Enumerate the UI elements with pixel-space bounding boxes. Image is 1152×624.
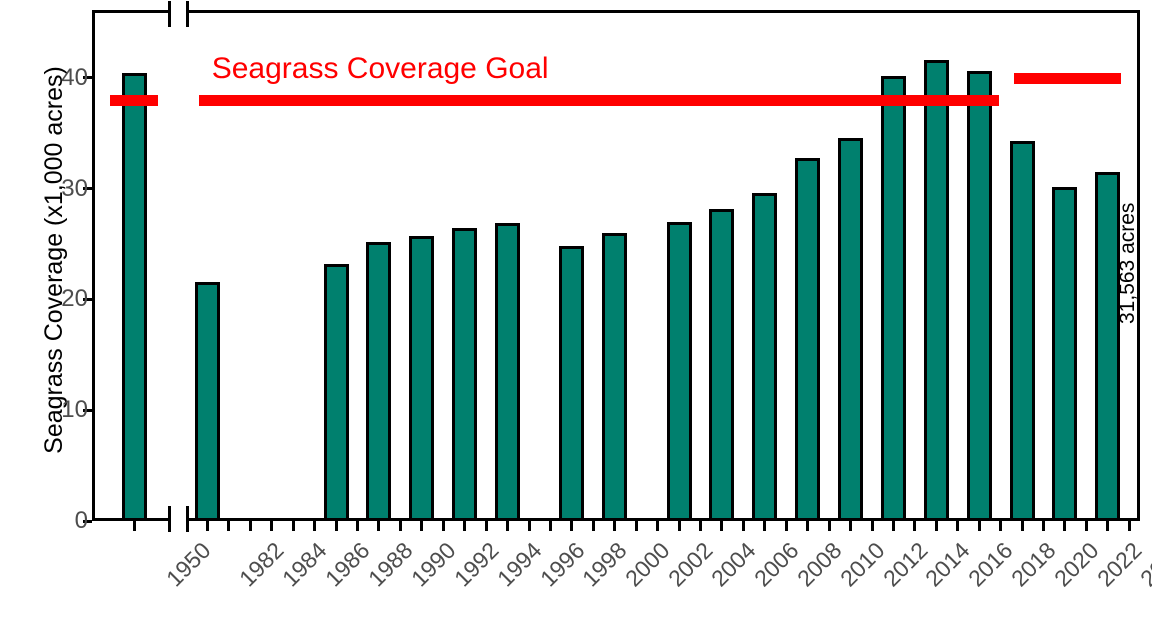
last-bar-value-label: 31,563 acres bbox=[1116, 203, 1140, 324]
x-axis-tick bbox=[1128, 521, 1131, 531]
goal-line-segment-main bbox=[199, 95, 999, 106]
x-axis-tick bbox=[377, 521, 380, 531]
axis-break-mark-top-left bbox=[168, 1, 171, 27]
x-axis-tick bbox=[742, 521, 745, 531]
bar bbox=[1052, 187, 1077, 521]
y-axis-tick-label: 30 bbox=[61, 175, 88, 203]
x-axis-tick bbox=[656, 521, 659, 531]
x-axis-tick bbox=[956, 521, 959, 531]
y-axis-tick-label: 0 bbox=[75, 507, 88, 535]
x-axis-tick-label: 2006 bbox=[749, 537, 804, 592]
bar bbox=[366, 242, 391, 521]
x-axis-tick-label: 2020 bbox=[1049, 537, 1104, 592]
x-axis-tick-label: 2012 bbox=[878, 537, 933, 592]
x-axis-tick-label: 2000 bbox=[620, 537, 675, 592]
x-axis-tick bbox=[849, 521, 852, 531]
x-axis-tick bbox=[356, 521, 359, 531]
bar bbox=[495, 223, 520, 521]
x-axis-tick bbox=[1063, 521, 1066, 531]
bar bbox=[881, 76, 906, 521]
x-axis-tick-label: 1992 bbox=[449, 537, 504, 592]
x-axis-tick bbox=[999, 521, 1002, 531]
x-axis-tick-label: 1984 bbox=[277, 537, 332, 592]
axis-break-mark-bottom-left bbox=[168, 506, 171, 532]
x-axis-tick-label: 2002 bbox=[663, 537, 718, 592]
x-axis-tick-label: 1994 bbox=[492, 537, 547, 592]
bar bbox=[924, 60, 949, 521]
x-axis-tick-label: 1982 bbox=[234, 537, 289, 592]
x-axis-tick bbox=[871, 521, 874, 531]
bar bbox=[709, 209, 734, 521]
x-axis-tick bbox=[463, 521, 466, 531]
x-axis-tick bbox=[270, 521, 273, 531]
x-axis-tick bbox=[420, 521, 423, 531]
x-axis-tick bbox=[506, 521, 509, 531]
x-axis-tick bbox=[442, 521, 445, 531]
chart-root: Seagrass Coverage (x1,000 acres) 0102030… bbox=[0, 0, 1152, 624]
bar bbox=[795, 158, 820, 521]
x-axis-tick bbox=[720, 521, 723, 531]
x-axis-tick-label: 2010 bbox=[835, 537, 890, 592]
y-axis-tick-label: 10 bbox=[61, 396, 88, 424]
x-axis-tick bbox=[678, 521, 681, 531]
bar bbox=[667, 222, 692, 521]
bar bbox=[752, 193, 777, 521]
x-axis-tick bbox=[763, 521, 766, 531]
goal-label: Seagrass Coverage Goal bbox=[212, 52, 549, 86]
axis-left-spine bbox=[92, 10, 95, 521]
x-axis-tick-label: 1988 bbox=[363, 537, 418, 592]
x-axis-tick bbox=[227, 521, 230, 531]
bar bbox=[409, 236, 434, 521]
x-axis-tick-label: 2016 bbox=[963, 537, 1018, 592]
x-axis-tick bbox=[1042, 521, 1045, 531]
x-axis-tick bbox=[1106, 521, 1109, 531]
x-axis-tick bbox=[549, 521, 552, 531]
bar bbox=[602, 233, 627, 521]
x-axis-tick-label: 1990 bbox=[406, 537, 461, 592]
x-axis-tick-label: 2004 bbox=[706, 537, 761, 592]
x-axis-tick bbox=[1021, 521, 1024, 531]
x-axis-tick bbox=[935, 521, 938, 531]
x-axis-tick bbox=[785, 521, 788, 531]
y-axis-tick-label: 40 bbox=[61, 64, 88, 92]
x-axis-tick-label: 1950 bbox=[161, 537, 216, 592]
bar bbox=[559, 246, 584, 521]
x-axis-tick bbox=[828, 521, 831, 531]
axis-top-spine-right bbox=[186, 10, 1140, 13]
x-axis-tick bbox=[699, 521, 702, 531]
bar bbox=[967, 71, 992, 521]
bar bbox=[452, 228, 477, 521]
x-axis-tick bbox=[206, 521, 209, 531]
x-axis-tick bbox=[313, 521, 316, 531]
x-axis-tick bbox=[1085, 521, 1088, 531]
bar bbox=[195, 282, 220, 521]
x-axis-tick bbox=[613, 521, 616, 531]
goal-line-segment-recent bbox=[1014, 73, 1121, 84]
x-axis-tick bbox=[892, 521, 895, 531]
goal-line-segment-1950 bbox=[110, 95, 158, 106]
y-axis-tick-label: 20 bbox=[61, 285, 88, 313]
axis-break-mark-bottom-right bbox=[186, 506, 189, 532]
x-axis-tick-label: 1998 bbox=[577, 537, 632, 592]
x-axis-tick bbox=[249, 521, 252, 531]
plot-area: 010203040 195019821984198619881990199219… bbox=[92, 10, 1140, 521]
x-axis-tick bbox=[335, 521, 338, 531]
x-axis-tick-label: 2022 bbox=[1092, 537, 1147, 592]
x-axis-tick-label: 2018 bbox=[1006, 537, 1061, 592]
axis-break-mark-top-right bbox=[186, 1, 189, 27]
x-axis-tick bbox=[133, 521, 136, 531]
bar bbox=[324, 264, 349, 521]
x-axis-tick-label: 2008 bbox=[792, 537, 847, 592]
x-axis-tick bbox=[570, 521, 573, 531]
x-axis-tick-label: 1986 bbox=[320, 537, 375, 592]
x-axis-tick bbox=[292, 521, 295, 531]
x-axis-tick-label: 1996 bbox=[535, 537, 590, 592]
axis-top-spine-left bbox=[92, 10, 170, 13]
x-axis-tick bbox=[399, 521, 402, 531]
bar bbox=[838, 138, 863, 521]
bar bbox=[1010, 141, 1035, 521]
x-axis-tick bbox=[635, 521, 638, 531]
x-axis-tick bbox=[592, 521, 595, 531]
x-axis-tick bbox=[913, 521, 916, 531]
bar bbox=[122, 73, 147, 521]
x-axis-tick bbox=[978, 521, 981, 531]
x-axis-tick bbox=[806, 521, 809, 531]
x-axis-tick-label: 2014 bbox=[920, 537, 975, 592]
x-axis-tick bbox=[485, 521, 488, 531]
x-axis-tick bbox=[528, 521, 531, 531]
